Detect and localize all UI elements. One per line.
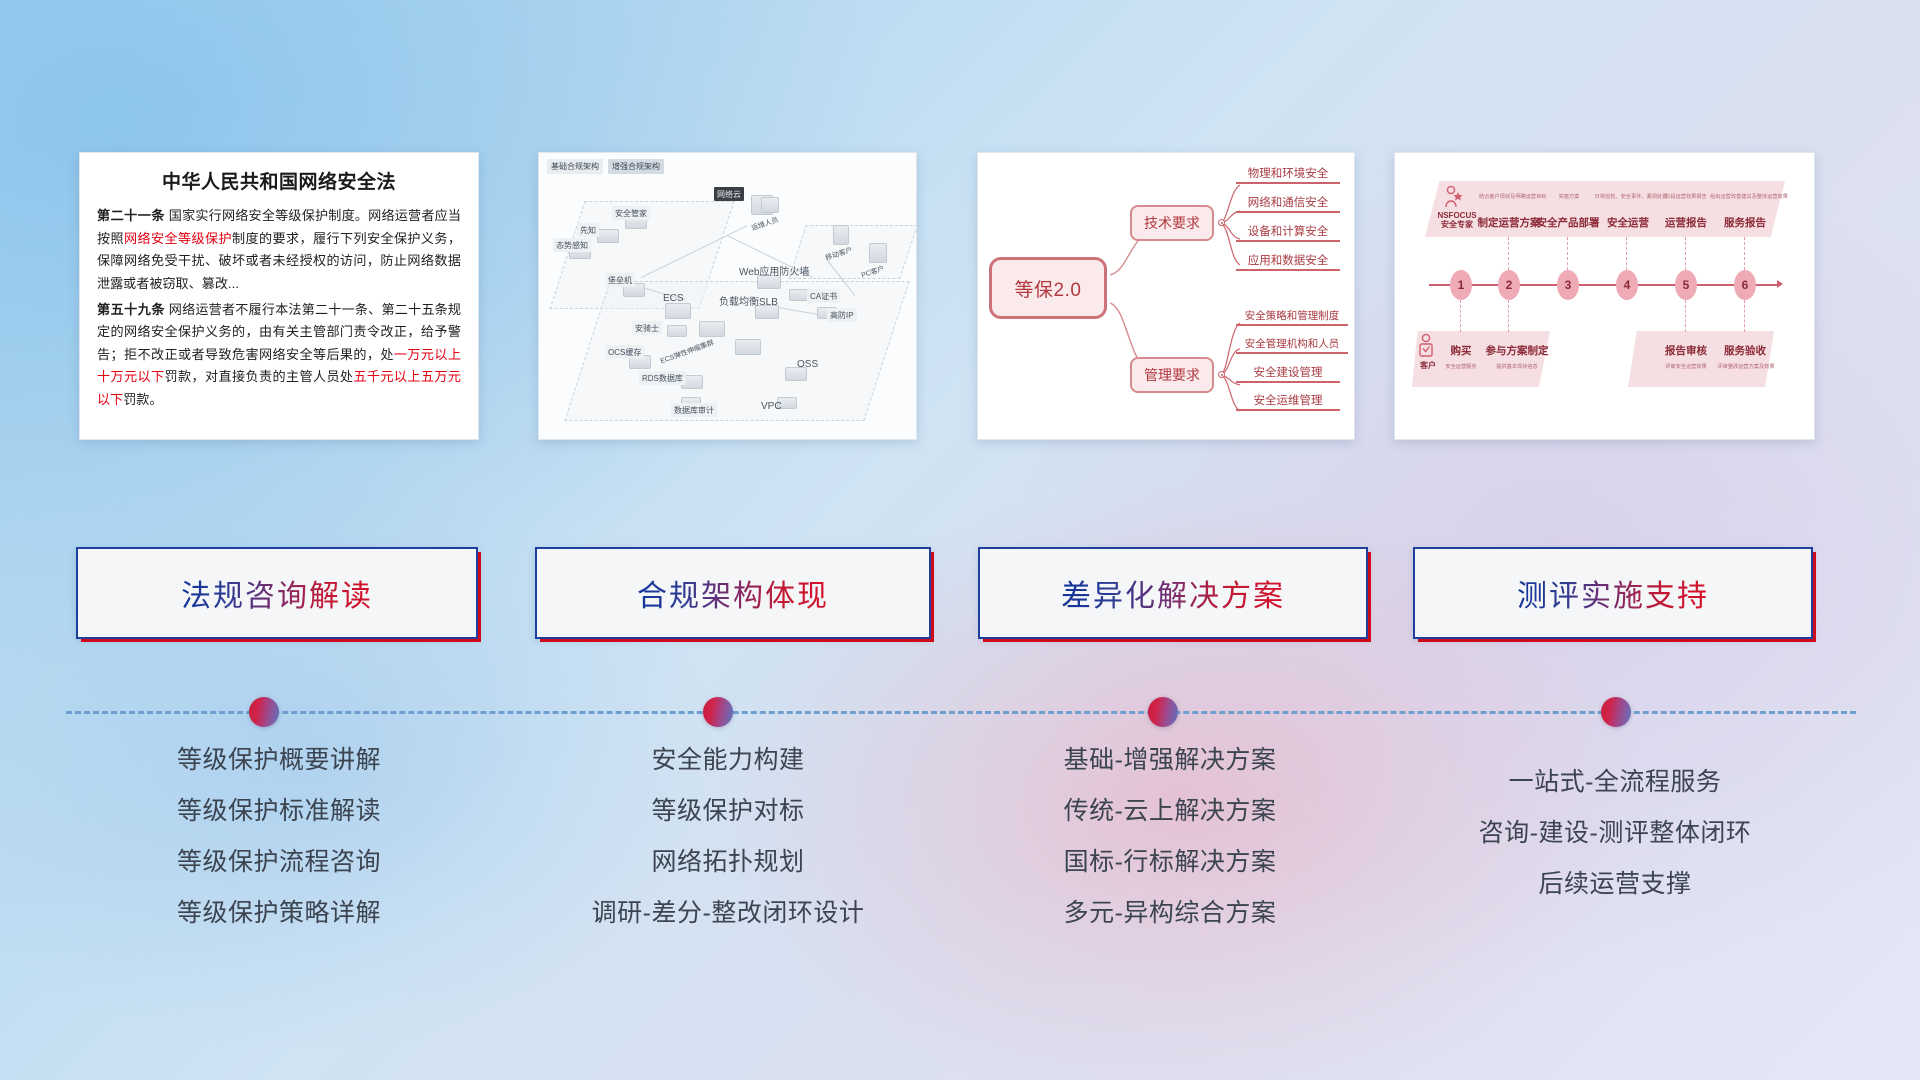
pillar-title-box-2[interactable]: 合规架构体现: [535, 547, 931, 639]
law-article-21-label: 第二十一条: [97, 208, 165, 223]
nsfocus-step-3[interactable]: 3: [1557, 270, 1579, 300]
list-item: 等级保护概要讲解: [79, 735, 479, 786]
pillar-items-row: 等级保护概要讲解 等级保护标准解读 等级保护流程咨询 等级保护策略详解 安全能力…: [0, 735, 1920, 965]
nsfocus-step-5-top-label: 运营报告: [1656, 215, 1716, 230]
architecture-box-pc-user: [869, 243, 887, 263]
mindmap-leaf-app-data: 应用和数据安全: [1236, 252, 1340, 271]
nsfocus-step-3-top-sub: 实施方案: [1547, 193, 1591, 200]
law-article-21-highlight: 网络安全等级保护: [124, 231, 232, 246]
mindmap-leaf-org-personnel: 安全管理机构和人员: [1236, 336, 1348, 354]
nsfocus-step-6-bottom-label: 服务验收: [1716, 343, 1774, 358]
nsfocus-connector-5-bottom: [1685, 300, 1686, 332]
mindmap: 等保2.0 技术要求 物理和环境安全 网络和通信安全 设备和计算安全 应用和数据…: [978, 153, 1354, 439]
nsfocus-axis-arrow-icon: [1777, 280, 1783, 288]
architecture-box-ecs: [665, 303, 691, 319]
timeline-dot-2[interactable]: [703, 697, 733, 727]
architecture-box-mobile-user: [833, 225, 849, 245]
architecture-box-anqishi: [667, 325, 687, 337]
mindmap-leaf-policy-system: 安全策略和管理制度: [1236, 308, 1348, 326]
architecture-label-anti-ddos-ip: 高防IP: [827, 308, 857, 322]
nsfocus-step-6-top-sub: 给出运营改善建议及整体运营效果: [1703, 193, 1795, 200]
list-item: 安全能力构建: [528, 735, 928, 786]
architecture-label-security-butler: 安全管家: [612, 206, 650, 220]
law-article-59-text-middle: 罚款，对直接负责的主管人员处: [164, 369, 353, 384]
nsfocus-step-2[interactable]: 2: [1498, 270, 1520, 300]
nsfocus-step-6[interactable]: 6: [1734, 270, 1756, 300]
nsfocus-connector-1-bottom: [1460, 300, 1461, 332]
mindmap-leaf-construction-mgmt: 安全建设管理: [1236, 364, 1340, 383]
pillar-items-2: 安全能力构建 等级保护对标 网络拓扑规划 调研-差分-整改闭环设计: [528, 735, 928, 939]
list-item: 咨询-建设-测评整体闭环: [1400, 808, 1830, 859]
timeline-dot-4[interactable]: [1601, 697, 1631, 727]
pillar-title-box-3[interactable]: 差异化解决方案: [978, 547, 1368, 639]
architecture-label-situation-awareness: 态势感知: [553, 238, 591, 252]
architecture-tabs: 基础合规架构 增强合规架构: [547, 159, 664, 174]
nsfocus-connector-2-bottom: [1508, 300, 1509, 332]
nsfocus-step-5-bottom-label: 报告审核: [1657, 343, 1715, 358]
card-cybersecurity-law[interactable]: 中华人民共和国网络安全法 第二十一条 国家实行网络安全等级保护制度。网络运营者应…: [79, 152, 479, 440]
law-title: 中华人民共和国网络安全法: [97, 167, 461, 194]
nsfocus-connector-6-bottom: [1744, 300, 1745, 332]
architecture-diagram: 基础合规架构 增强合规架构: [539, 153, 916, 439]
law-article-59-label: 第五十九条: [97, 302, 165, 317]
nsfocus-customer-band-right: [1628, 331, 1774, 387]
nsfocus-step-1-bottom-sub: 安全运营服务: [1438, 363, 1484, 370]
timeline-row: [0, 692, 1920, 732]
nsfocus-step-3-top-label: 安全产品部署: [1533, 215, 1603, 230]
architecture-label-anqishi: 安骑士: [632, 321, 662, 335]
architecture-tab-enhanced[interactable]: 增强合规架构: [608, 159, 664, 174]
slide-canvas: 中华人民共和国网络安全法 第二十一条 国家实行网络安全等级保护制度。网络运营者应…: [0, 0, 1920, 1080]
nsfocus-step-6-top-label: 服务报告: [1715, 215, 1775, 230]
nsfocus-connector-3-top: [1567, 237, 1568, 270]
list-item: 基础-增强解决方案: [965, 735, 1375, 786]
list-item: 等级保护标准解读: [79, 786, 479, 837]
timeline-dashed-line: [66, 711, 1856, 714]
mindmap-leaf-network-comm: 网络和通信安全: [1236, 194, 1340, 213]
nsfocus-step-6-bottom-sub: 评审整改运营方案及效果: [1709, 363, 1783, 370]
nsfocus-step-2-top-sub: 结合客户现状及明确运营目标: [1479, 193, 1539, 200]
list-item: 等级保护策略详解: [79, 888, 479, 939]
nsfocus-step-4-top-label: 安全运营: [1598, 215, 1658, 230]
architecture-label-ops-staff: 运维人员: [750, 215, 780, 233]
pillar-title-box-1[interactable]: 法规咨询解读: [76, 547, 478, 639]
mindmap-leaf-device-compute: 设备和计算安全: [1236, 223, 1340, 242]
nsfocus-step-5[interactable]: 5: [1675, 270, 1697, 300]
mindmap-root-node[interactable]: 等保2.0: [989, 257, 1107, 319]
architecture-label-ca-certificate: CA证书: [807, 289, 840, 303]
mindmap-branch-technical[interactable]: 技术要求: [1130, 205, 1214, 241]
law-article-59-text-after: 罚款。: [123, 392, 162, 407]
nsfocus-step-4[interactable]: 4: [1616, 270, 1638, 300]
nsfocus-step-1[interactable]: 1: [1450, 270, 1472, 300]
list-item: 等级保护对标: [528, 786, 928, 837]
architecture-label-db-audit: 数据库审计: [671, 403, 717, 417]
architecture-tab-basic[interactable]: 基础合规架构: [547, 159, 603, 174]
mindmap-collapse-dot-technical[interactable]: [1218, 219, 1225, 226]
list-item: 网络拓扑规划: [528, 837, 928, 888]
timeline-dot-1[interactable]: [249, 697, 279, 727]
nsfocus-connector-5-top: [1685, 237, 1686, 270]
architecture-label-bastion-host: 堡垒机: [605, 273, 635, 287]
nsfocus-connector-6-top: [1744, 237, 1745, 270]
list-item: 调研-差分-整改闭环设计: [528, 888, 928, 939]
pillar-items-1: 等级保护概要讲解 等级保护标准解读 等级保护流程咨询 等级保护策略详解: [79, 735, 479, 939]
image-card-row: 中华人民共和国网络安全法 第二十一条 国家实行网络安全等级保护制度。网络运营者应…: [0, 152, 1920, 440]
architecture-label-oss: OSS: [797, 359, 818, 370]
card-compliance-architecture[interactable]: 基础合规架构 增强合规架构: [538, 152, 917, 440]
mindmap-leaf-operations-mgmt: 安全运维管理: [1236, 392, 1340, 411]
mindmap-leaf-physical-env: 物理和环境安全: [1236, 165, 1340, 184]
architecture-box-ops-user: [761, 197, 779, 213]
nsfocus-connector-2-top: [1508, 237, 1509, 270]
pillar-title-4: 测评实施支持: [1517, 571, 1709, 615]
pillar-title-2: 合规架构体现: [637, 571, 829, 615]
architecture-label-slb: 负载均衡SLB: [719, 293, 778, 308]
architecture-label-ecs: ECS: [663, 293, 684, 304]
architecture-label-network-cloud: 网络云: [714, 187, 744, 201]
pillar-title-box-4[interactable]: 测评实施支持: [1413, 547, 1813, 639]
expert-person-icon: [1443, 185, 1465, 214]
nsfocus-step-2-bottom-sub: 提供基本现状信息: [1487, 363, 1547, 370]
law-article-59: 第五十九条 网络运营者不履行本法第二十一条、第二十五条规定的网络安全保护义务的，…: [97, 299, 461, 412]
nsfocus-timeline: NSFOCUS 安全专家 客户: [1395, 153, 1814, 439]
nsfocus-step-2-bottom-label: 参与方案制定: [1482, 343, 1552, 358]
pillar-items-3: 基础-增强解决方案 传统-云上解决方案 国标-行标解决方案 多元-异构综合方案: [965, 735, 1375, 939]
mindmap-collapse-dot-management[interactable]: [1218, 371, 1225, 378]
pillar-title-1: 法规咨询解读: [181, 571, 373, 615]
architecture-box-xianzhi: [597, 229, 619, 243]
card-mlps-mindmap[interactable]: 等保2.0 技术要求 物理和环境安全 网络和通信安全 设备和计算安全 应用和数据…: [977, 152, 1355, 440]
law-article-21: 第二十一条 国家实行网络安全等级保护制度。网络运营者应当按照网络安全等级保护制度…: [97, 205, 461, 296]
nsfocus-axis-line: [1429, 284, 1779, 286]
list-item: 国标-行标解决方案: [965, 837, 1375, 888]
list-item: 等级保护流程咨询: [79, 837, 479, 888]
card-nsfocus-service-timeline[interactable]: NSFOCUS 安全专家 客户: [1394, 152, 1815, 440]
pillar-title-3: 差异化解决方案: [1061, 571, 1285, 615]
architecture-box-ca: [789, 289, 809, 301]
customer-person-icon: [1418, 333, 1438, 364]
architecture-box-ecs-2: [699, 321, 725, 337]
nsfocus-step-1-bottom-label: 购买: [1443, 343, 1479, 358]
architecture-label-waf: Web应用防火墙: [739, 263, 809, 278]
architecture-label-ocs-cache: OCS缓存: [605, 345, 644, 359]
architecture-label-vpc: VPC: [761, 401, 782, 412]
pillar-title-row: 法规咨询解读 合规架构体现 差异化解决方案 测评实施支持: [0, 547, 1920, 639]
list-item: 传统-云上解决方案: [965, 786, 1375, 837]
architecture-box-ecs-3: [735, 339, 761, 355]
nsfocus-expert-line1: NSFOCUS: [1437, 211, 1476, 220]
mindmap-branch-management[interactable]: 管理要求: [1130, 357, 1214, 393]
pillar-items-4: 一站式-全流程服务 咨询-建设-测评整体闭环 后续运营支撑: [1400, 757, 1830, 910]
nsfocus-connector-4-top: [1626, 237, 1627, 270]
timeline-dot-3[interactable]: [1148, 697, 1178, 727]
nsfocus-expert-line2: 安全专家: [1441, 220, 1473, 229]
list-item: 一站式-全流程服务: [1400, 757, 1830, 808]
list-item: 多元-异构综合方案: [965, 888, 1375, 939]
architecture-label-rds-database: RDS数据库: [639, 371, 686, 385]
list-item: 后续运营支撑: [1400, 859, 1830, 910]
architecture-label-xianzhi: 先知: [577, 223, 599, 237]
